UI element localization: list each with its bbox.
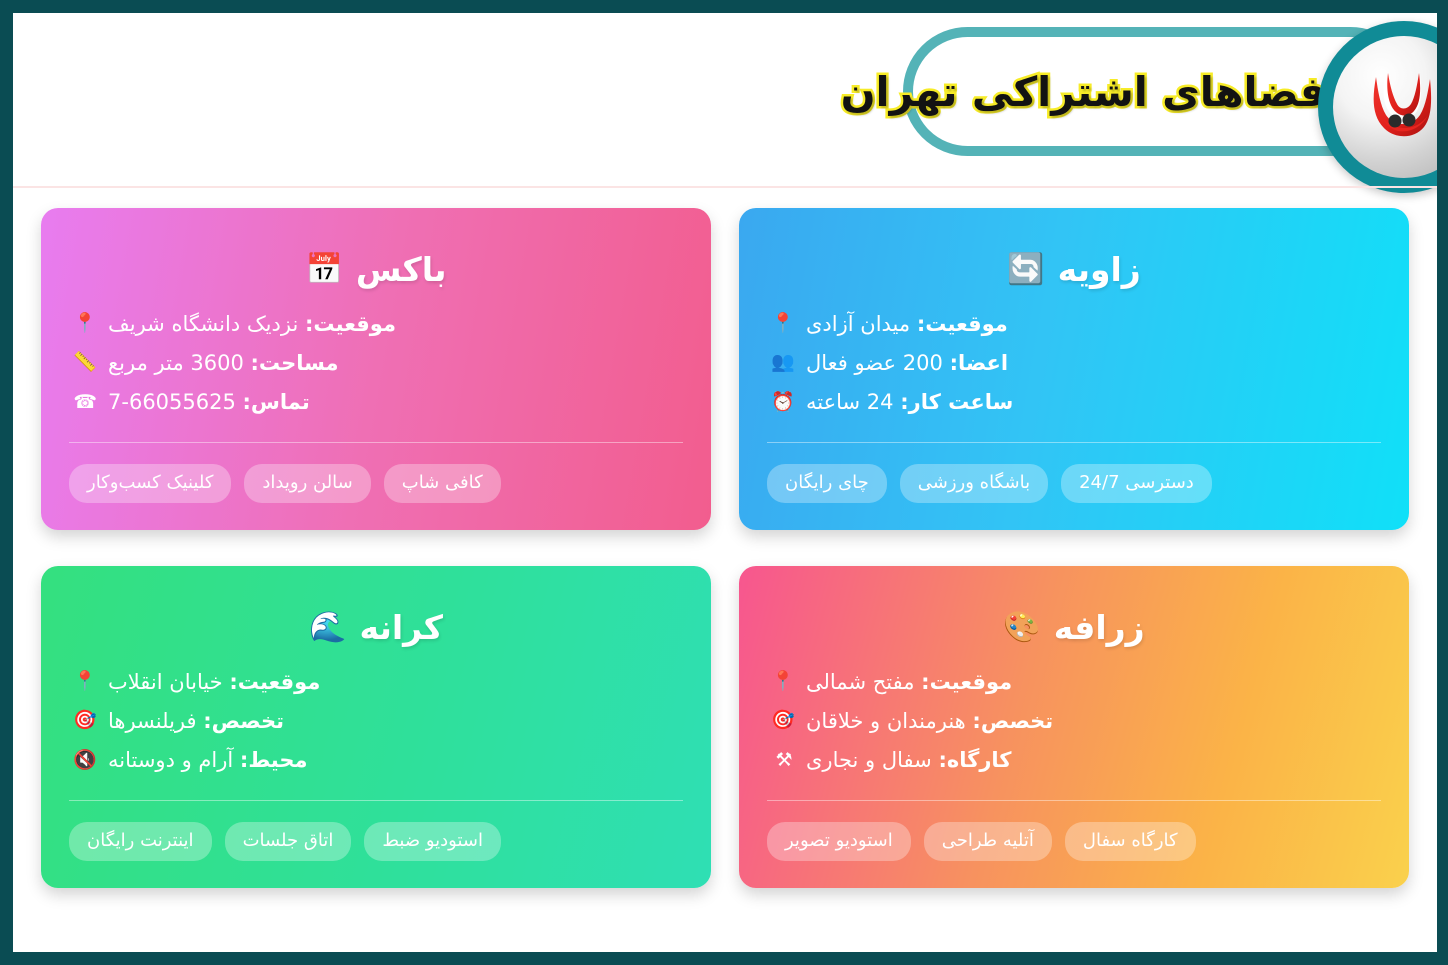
detail-text: کارگاه: سفال و نجاری xyxy=(806,746,1012,774)
target-icon: 🎯 xyxy=(75,708,97,734)
detail-row: 📍 موقعیت: میدان آزادی xyxy=(773,310,1008,338)
card-header: زرافه 🎨 xyxy=(767,608,1381,648)
detail-row: 📍 موقعیت: خیابان انقلاب xyxy=(75,668,320,696)
card-title: زاویه xyxy=(1058,250,1141,290)
detail-label: تماس: xyxy=(243,390,310,414)
detail-row: 📍 موقعیت: مفتح شمالی xyxy=(773,668,1012,696)
card-detail-list: 📍 موقعیت: میدان آزادی 👥 اعضا: 200 عضو فع… xyxy=(767,310,1381,417)
detail-row: 🎯 تخصص: فریلنسرها xyxy=(75,707,284,735)
detail-label: محیط: xyxy=(240,748,308,772)
detail-text: مساحت: 3600 متر مربع xyxy=(108,349,339,377)
tag-chip[interactable]: باشگاه ورزشی xyxy=(900,464,1048,504)
card-tag-list: دسترسی 24/7 باشگاه ورزشی چای رایگان xyxy=(767,464,1381,504)
detail-text: ساعت کار: 24 ساعته xyxy=(806,388,1013,416)
art-palette-icon: 🎨 xyxy=(1003,613,1040,643)
card-detail-list: 📍 موقعیت: خیابان انقلاب 🎯 تخصص: فریلنسره… xyxy=(69,668,683,775)
wave-icon: 🌊 xyxy=(309,613,346,643)
detail-row: 📏 مساحت: 3600 متر مربع xyxy=(75,349,339,377)
card-tag-list: کارگاه سفال آتلیه طراحی استودیو تصویر xyxy=(767,822,1381,862)
detail-label: تخصص: xyxy=(972,709,1053,733)
page-frame: بهترین فضاهای اشتراکی تهران xyxy=(0,0,1448,965)
tag-chip[interactable]: دسترسی 24/7 xyxy=(1061,464,1212,504)
detail-row: ☎ تماس: 66055625-7 xyxy=(75,388,310,416)
space-card-zavieh[interactable]: زاویه 🔄 📍 موقعیت: میدان آزادی 👥 اعضا: 20… xyxy=(739,208,1409,530)
detail-text: تخصص: هنرمندان و خلاقان xyxy=(806,707,1053,735)
detail-row: 📍 موقعیت: نزدیک دانشگاه شریف xyxy=(75,310,396,338)
detail-text: تخصص: فریلنسرها xyxy=(108,707,284,735)
card-divider xyxy=(767,800,1381,801)
tag-chip[interactable]: چای رایگان xyxy=(767,464,887,504)
tag-chip[interactable]: سالن رویداد xyxy=(244,464,370,504)
detail-value: 3600 متر مربع xyxy=(108,351,244,375)
red-flower-logo-icon xyxy=(1352,55,1437,159)
tag-chip[interactable]: استودیو تصویر xyxy=(767,822,911,862)
card-title: کرانه xyxy=(359,608,442,648)
location-pin-icon: 📍 xyxy=(773,311,795,337)
detail-label: موقعیت: xyxy=(305,312,396,336)
detail-row: 🔇 محیط: آرام و دوستانه xyxy=(75,746,308,774)
calendar-icon: 📅 xyxy=(306,255,343,285)
space-card-box[interactable]: باکس 📅 📍 موقعیت: نزدیک دانشگاه شریف 📏 مس… xyxy=(41,208,711,530)
detail-label: تخصص: xyxy=(203,709,284,733)
card-divider xyxy=(767,442,1381,443)
tag-chip[interactable]: کارگاه سفال xyxy=(1065,822,1196,862)
detail-row: ⚒ کارگاه: سفال و نجاری xyxy=(773,746,1012,774)
space-card-zarafe[interactable]: زرافه 🎨 📍 موقعیت: مفتح شمالی 🎯 تخصص: هنر… xyxy=(739,566,1409,888)
muted-speaker-icon: 🔇 xyxy=(75,748,97,774)
detail-label: موقعیت: xyxy=(921,670,1012,694)
tag-chip[interactable]: آتلیه طراحی xyxy=(924,822,1052,862)
detail-value: فریلنسرها xyxy=(108,709,197,733)
detail-value: خیابان انقلاب xyxy=(108,670,223,694)
tag-chip[interactable]: کافی شاپ xyxy=(384,464,501,504)
detail-value: 66055625-7 xyxy=(108,390,236,414)
ruler-icon: 📏 xyxy=(75,350,97,376)
space-card-karaneh[interactable]: کرانه 🌊 📍 موقعیت: خیابان انقلاب 🎯 تخصص: … xyxy=(41,566,711,888)
tag-chip[interactable]: کلینیک کسب‌وکار xyxy=(69,464,231,504)
detail-text: موقعیت: میدان آزادی xyxy=(806,310,1008,338)
detail-label: موقعیت: xyxy=(917,312,1008,336)
card-header: کرانه 🌊 xyxy=(69,608,683,648)
space-card-grid: زاویه 🔄 📍 موقعیت: میدان آزادی 👥 اعضا: 20… xyxy=(13,186,1437,888)
tag-chip[interactable]: اتاق جلسات xyxy=(225,822,352,862)
detail-value: میدان آزادی xyxy=(806,312,910,336)
detail-value: نزدیک دانشگاه شریف xyxy=(108,312,298,336)
repeat-icon: 🔄 xyxy=(1007,255,1044,285)
detail-row: ⏰ ساعت کار: 24 ساعته xyxy=(773,388,1013,416)
detail-label: ساعت کار: xyxy=(900,390,1013,414)
card-detail-list: 📍 موقعیت: نزدیک دانشگاه شریف 📏 مساحت: 36… xyxy=(69,310,683,417)
detail-row: 👥 اعضا: 200 عضو فعال xyxy=(773,349,1008,377)
detail-value: 200 عضو فعال xyxy=(806,351,943,375)
detail-label: موقعیت: xyxy=(229,670,320,694)
people-icon: 👥 xyxy=(773,350,795,376)
tools-icon: ⚒ xyxy=(773,748,795,774)
tag-chip[interactable]: استودیو ضبط xyxy=(364,822,501,862)
location-pin-icon: 📍 xyxy=(773,669,795,695)
card-title: زرافه xyxy=(1054,608,1145,648)
card-header: باکس 📅 xyxy=(69,250,683,290)
card-title: باکس xyxy=(356,250,447,290)
detail-text: تماس: 66055625-7 xyxy=(108,388,310,416)
detail-value: مفتح شمالی xyxy=(806,670,914,694)
card-tag-list: استودیو ضبط اتاق جلسات اینترنت رایگان xyxy=(69,822,683,862)
telephone-icon: ☎ xyxy=(75,390,97,416)
detail-value: 24 ساعته xyxy=(806,390,894,414)
card-divider xyxy=(69,442,683,443)
target-icon: 🎯 xyxy=(773,708,795,734)
detail-label: کارگاه: xyxy=(938,748,1011,772)
detail-value: هنرمندان و خلاقان xyxy=(806,709,966,733)
page-header: بهترین فضاهای اشتراکی تهران xyxy=(13,13,1437,186)
detail-text: موقعیت: مفتح شمالی xyxy=(806,668,1012,696)
page-canvas: بهترین فضاهای اشتراکی تهران xyxy=(13,13,1437,952)
detail-text: موقعیت: خیابان انقلاب xyxy=(108,668,320,696)
detail-row: 🎯 تخصص: هنرمندان و خلاقان xyxy=(773,707,1053,735)
detail-value: سفال و نجاری xyxy=(806,748,932,772)
location-pin-icon: 📍 xyxy=(75,311,97,337)
detail-text: اعضا: 200 عضو فعال xyxy=(806,349,1008,377)
location-pin-icon: 📍 xyxy=(75,669,97,695)
card-divider xyxy=(69,800,683,801)
detail-text: محیط: آرام و دوستانه xyxy=(108,746,308,774)
detail-text: موقعیت: نزدیک دانشگاه شریف xyxy=(108,310,396,338)
card-tag-list: کافی شاپ سالن رویداد کلینیک کسب‌وکار xyxy=(69,464,683,504)
alarm-clock-icon: ⏰ xyxy=(773,390,795,416)
detail-label: مساحت: xyxy=(251,351,339,375)
tag-chip[interactable]: اینترنت رایگان xyxy=(69,822,212,862)
card-detail-list: 📍 موقعیت: مفتح شمالی 🎯 تخصص: هنرمندان و … xyxy=(767,668,1381,775)
detail-value: آرام و دوستانه xyxy=(108,748,233,772)
logo-inner-disc xyxy=(1333,36,1437,178)
detail-label: اعضا: xyxy=(950,351,1009,375)
card-header: زاویه 🔄 xyxy=(767,250,1381,290)
